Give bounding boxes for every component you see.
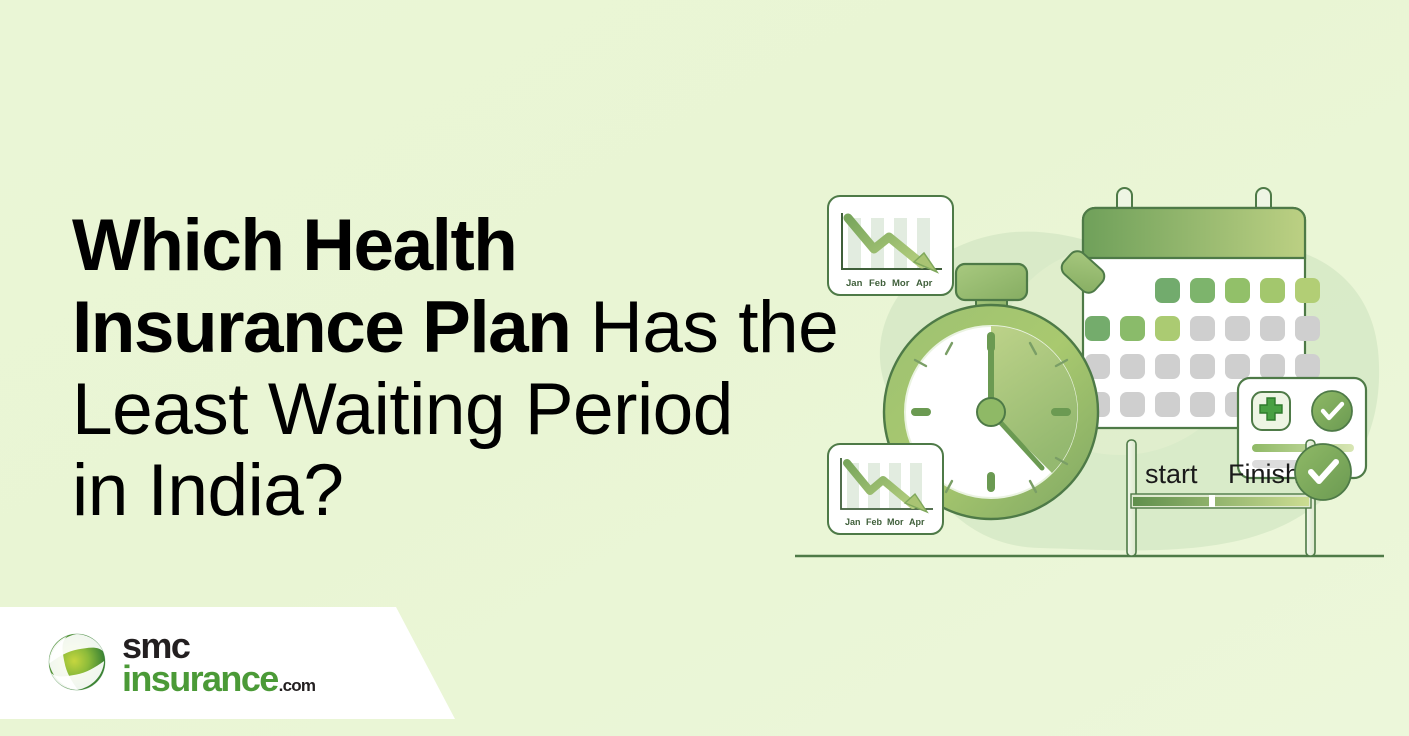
headline-line-4: in India? (72, 450, 872, 532)
logo-wordmark: smc insurance .com (122, 629, 315, 695)
logo-lockup[interactable]: smc insurance .com (46, 629, 315, 695)
svg-text:Jan: Jan (846, 278, 863, 289)
headline-strong-2: Insurance Plan (72, 287, 570, 368)
headline-line-1: Which Health (72, 205, 872, 287)
banner-root: Which Health Insurance Plan Has the Leas… (0, 0, 1409, 736)
svg-text:Apr: Apr (909, 517, 925, 527)
progress-marker (1209, 495, 1215, 507)
headline-strong-1: Which Health (72, 205, 516, 286)
progress-start-label: start (1145, 459, 1198, 489)
check-circle-icon (1312, 391, 1352, 431)
svg-text:Mor: Mor (887, 517, 904, 527)
page-title: Which Health Insurance Plan Has the Leas… (72, 205, 872, 532)
headline-light-3: Least Waiting Period (72, 369, 733, 450)
smc-sphere-logo-icon (46, 631, 108, 693)
headline-light-4: in India? (72, 450, 344, 531)
headline-line-2: Insurance Plan Has the (72, 287, 872, 369)
logo-brand-tld: .com (279, 678, 315, 694)
logo-brand-secondary-row: insurance .com (122, 662, 315, 695)
headline-line-3: Least Waiting Period (72, 369, 872, 451)
progress-finish-label: Finish (1228, 459, 1300, 489)
svg-text:Apr: Apr (916, 278, 933, 289)
svg-text:Mor: Mor (892, 278, 910, 289)
progress-bar-fill (1133, 497, 1309, 506)
medical-cross-icon (1252, 392, 1290, 430)
brand-logo-banner[interactable]: smc insurance .com (0, 607, 460, 719)
finish-check-circle-icon (1295, 444, 1351, 500)
svg-text:Jan: Jan (845, 517, 861, 527)
svg-text:Feb: Feb (866, 517, 883, 527)
waiting-period-illustration: start Finish (790, 150, 1390, 570)
declining-trend-chart-card-top: Jan Feb Mor Apr (828, 196, 953, 295)
svg-text:Feb: Feb (869, 278, 886, 289)
declining-trend-chart-card-bottom: Jan Feb Mor Apr (828, 444, 943, 534)
logo-brand-secondary: insurance (122, 662, 278, 695)
